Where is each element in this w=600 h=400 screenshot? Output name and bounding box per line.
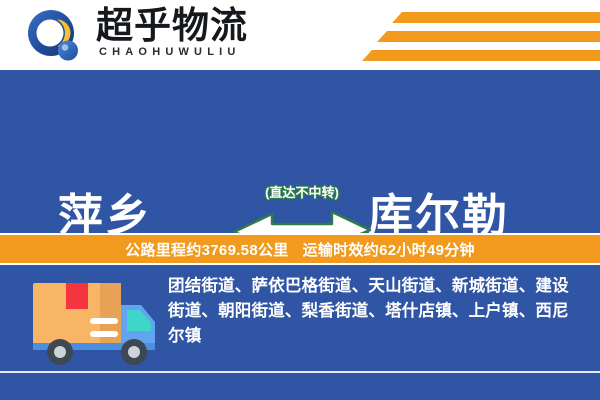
banner-header: 超乎物流 CHAOHUWULIU	[0, 0, 600, 70]
delivery-truck-icon	[28, 277, 168, 369]
info-bar-top-rule	[0, 233, 600, 235]
brand-name-cn: 超乎物流	[96, 6, 248, 46]
route-info-bar: 公路里程约3769.58公里 运输时效约62小时49分钟	[0, 233, 600, 265]
route-note-direct: (直达不中转)	[232, 182, 372, 201]
route-duration: 运输时效约62小时49分钟	[303, 239, 475, 260]
route-distance: 公路里程约3769.58公里	[125, 239, 288, 260]
route-panel: 萍乡 库尔勒 (直达不中转) 【往返运输】	[0, 70, 600, 233]
delivery-areas-text: 团结街道、萨依巴格街道、天山街道、新城街道、建设街道、朝阳街道、梨香街道、塔什店…	[168, 274, 580, 349]
brand-name-en: CHAOHUWULIU	[99, 46, 241, 58]
stripe-2	[377, 31, 600, 42]
stripe-3	[362, 50, 600, 61]
circle-q-logo-icon	[27, 9, 81, 63]
logistics-route-banner: 超乎物流 CHAOHUWULIU 萍乡 库尔勒 (直达不中转) 【往返运输】 公…	[0, 0, 600, 400]
decorative-stripes	[350, 0, 600, 70]
bottom-divider	[0, 371, 600, 373]
stripe-1	[392, 12, 600, 23]
